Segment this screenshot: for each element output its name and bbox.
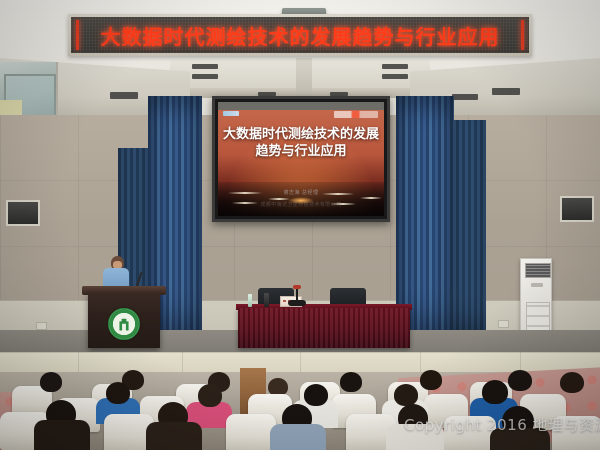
led-banner: 大数据时代测绘技术的发展趋势与行业应用 [68, 14, 532, 56]
led-screen: 大数据时代测绘技术的发展趋势与行业应用 [71, 17, 529, 53]
projector-mount [296, 58, 312, 92]
audience-person-torso [386, 424, 444, 450]
ceiling-vent [192, 64, 218, 69]
audience-head [340, 372, 362, 392]
head-table-cloth [238, 308, 410, 348]
stage-curtain-far-right [450, 120, 486, 348]
wall-speaker-left [6, 200, 40, 226]
thermos-cup [264, 293, 269, 307]
audience-head [508, 370, 532, 391]
slide-title-line2: 趋势与行业应用 [218, 143, 384, 160]
audience-head [198, 384, 222, 407]
slide-glow [288, 197, 314, 204]
ceiling-vent [452, 94, 478, 100]
ceiling-vent [192, 74, 218, 79]
ceiling-vent [492, 88, 520, 95]
led-banner-text: 大数据时代测绘技术的发展趋势与行业应用 [101, 21, 500, 50]
audience-person-torso [146, 422, 202, 450]
audience-person-torso [490, 428, 550, 450]
wall-outlet [498, 320, 509, 328]
slide-logo-right-icon [334, 111, 378, 118]
slide-logo-left-icon [223, 111, 239, 116]
podium [88, 292, 160, 348]
ceiling-vent [110, 92, 138, 99]
presentation-slide: 大数据时代测绘技术的发展 趋势与行业应用 谢志海 总经理 成都中海达卫星导航技术… [218, 102, 384, 216]
audience-seat [226, 414, 276, 450]
audience-person-torso [34, 420, 90, 450]
slide-title-line1: 大数据时代测绘技术的发展 [218, 126, 384, 143]
university-seal-icon [108, 308, 140, 340]
slide-title: 大数据时代测绘技术的发展 趋势与行业应用 [218, 126, 384, 160]
audience-head [40, 372, 62, 392]
wall-speaker-right [560, 196, 594, 222]
ac-grille-icon [525, 263, 551, 278]
projection-screen: 大数据时代测绘技术的发展 趋势与行业应用 谢志海 总经理 成都中海达卫星导航技术… [212, 96, 390, 222]
audience-head [482, 380, 508, 404]
audience-head [106, 382, 130, 404]
photo-scene: 大数据时代测绘技术的发展趋势与行业应用 大数据时代测绘技术的发展 趋势与行业应用… [0, 0, 600, 450]
table-microphone-base [288, 300, 306, 306]
ceiling-vent [382, 74, 408, 79]
slide-cityscape-image [218, 182, 384, 216]
audience-head [420, 370, 442, 390]
audience-seat [552, 416, 600, 450]
slide-top-bar [218, 102, 384, 110]
audience-head [304, 384, 328, 406]
wall-outlet [36, 322, 47, 330]
audience-head [394, 384, 418, 406]
audience-seat [444, 416, 496, 450]
ac-badge [531, 283, 543, 287]
ceiling-vent [382, 64, 408, 69]
audience-person-torso [270, 424, 326, 450]
water-bottle [248, 294, 252, 307]
audience-head [560, 372, 584, 393]
